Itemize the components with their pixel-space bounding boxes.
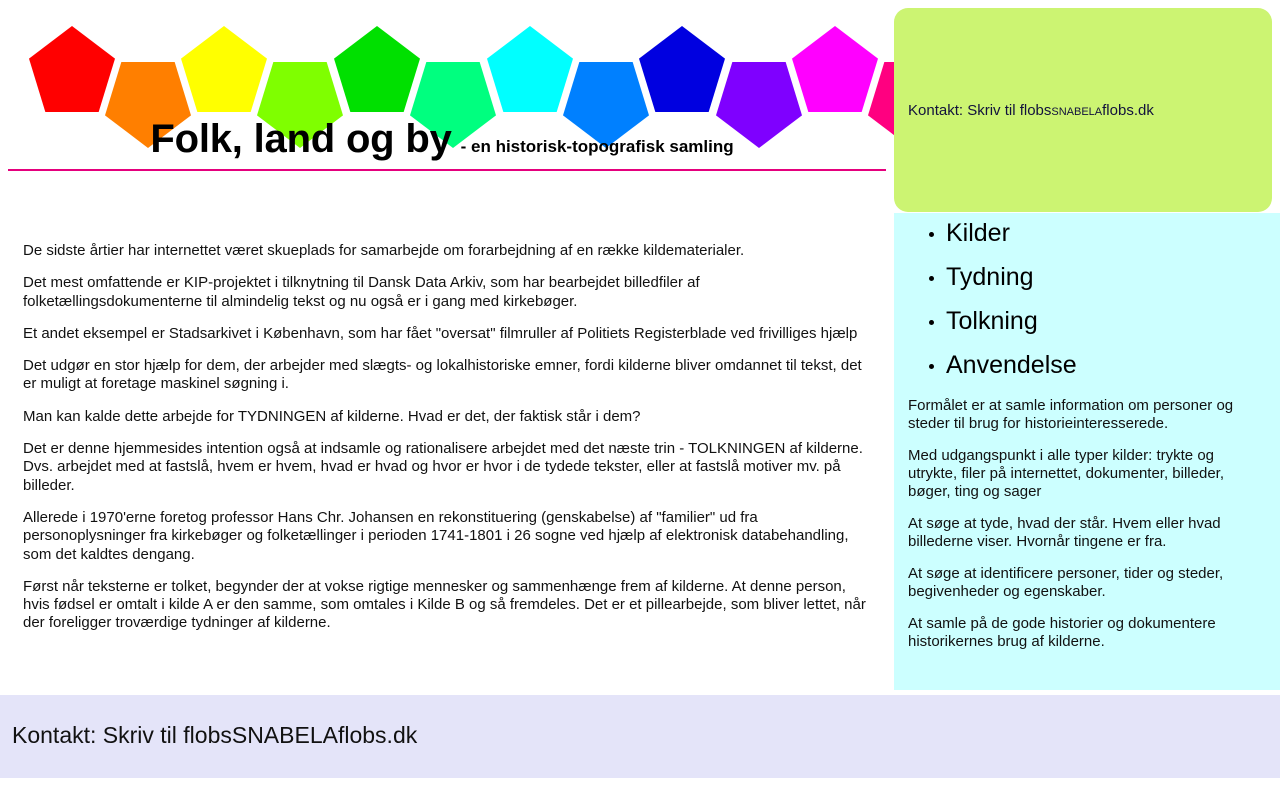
sidebar-paragraph: Formålet er at samle information om pers… xyxy=(908,397,1266,433)
footer: Kontakt: Skriv til flobsSNABELAflobs.dk xyxy=(0,695,1280,778)
contact-suffix: flobs.dk xyxy=(1102,102,1154,119)
sidebar-menu: KilderTydningTolkningAnvendelse xyxy=(908,221,1266,378)
page-root: Folk, land og by - en historisk-topograf… xyxy=(0,0,1280,800)
sidebar-paragraph: Med udgangspunkt i alle typer kilder: tr… xyxy=(908,447,1266,501)
sidebar-menu-item-tolkning[interactable]: Tolkning xyxy=(946,309,1266,334)
sidebar-description-list: Formålet er at samle information om pers… xyxy=(908,397,1266,651)
contact-at-word: SNABELA xyxy=(1051,106,1102,118)
article-paragraph: Det mest omfattende er KIP-projektet i t… xyxy=(23,274,871,311)
article-paragraph: Allerede i 1970'erne foretog professor H… xyxy=(23,509,871,564)
sidebar-paragraph: At søge at tyde, hvad der står. Hvem ell… xyxy=(908,515,1266,551)
banner-divider xyxy=(8,169,886,171)
article-paragraph: De sidste årtier har internettet været s… xyxy=(23,242,871,260)
pentagon-magenta xyxy=(792,26,878,112)
page-subtitle: - en historisk-topografisk samling xyxy=(461,138,734,155)
sidebar-paragraph: At søge at identificere personer, tider … xyxy=(908,565,1266,601)
sidebar-menu-item-label: Tydning xyxy=(946,263,1034,291)
site-banner: Folk, land og by - en historisk-topograf… xyxy=(0,0,894,180)
article-paragraph: Man kan kalde dette arbejde for TYDNINGE… xyxy=(23,408,871,426)
pentagon-cyan xyxy=(487,26,573,112)
sidebar-paragraph: At samle på de gode historier og dokumen… xyxy=(908,615,1266,651)
sidebar-menu-item-anvendelse[interactable]: Anvendelse xyxy=(946,353,1266,378)
sidebar-menu-item-kilder[interactable]: Kilder xyxy=(946,221,1266,246)
pentagon-yellow xyxy=(181,26,267,112)
main-article: De sidste årtier har internettet været s… xyxy=(0,190,894,647)
contact-box: Kontakt: Skriv til flobsSNABELAflobs.dk xyxy=(894,8,1272,212)
pentagon-red xyxy=(29,26,115,112)
contact-box-text: Kontakt: Skriv til flobsSNABELAflobs.dk xyxy=(908,102,1154,119)
sidebar-menu-item-label: Kilder xyxy=(946,219,1010,247)
footer-contact-text: Kontakt: Skriv til flobsSNABELAflobs.dk xyxy=(12,722,417,749)
article-paragraph: Et andet eksempel er Stadsarkivet i Købe… xyxy=(23,325,871,343)
sidebar-menu-item-tydning[interactable]: Tydning xyxy=(946,265,1266,290)
article-paragraph: Det er denne hjemmesides intention også … xyxy=(23,440,871,495)
sidebar-menu-item-label: Tolkning xyxy=(946,307,1038,335)
page-title: Folk, land og by xyxy=(150,119,451,159)
sidebar: KilderTydningTolkningAnvendelse Formålet… xyxy=(894,213,1280,690)
sidebar-menu-item-label: Anvendelse xyxy=(946,351,1077,379)
article-paragraph: Først når teksterne er tolket, begynder … xyxy=(23,578,871,633)
pentagon-green xyxy=(334,26,420,112)
contact-prefix: Kontakt: Skriv til flobs xyxy=(908,102,1051,119)
pentagon-blue xyxy=(639,26,725,112)
article-paragraph: Det udgør en stor hjælp for dem, der arb… xyxy=(23,357,871,394)
banner-title-group: Folk, land og by - en historisk-topograf… xyxy=(0,119,894,167)
